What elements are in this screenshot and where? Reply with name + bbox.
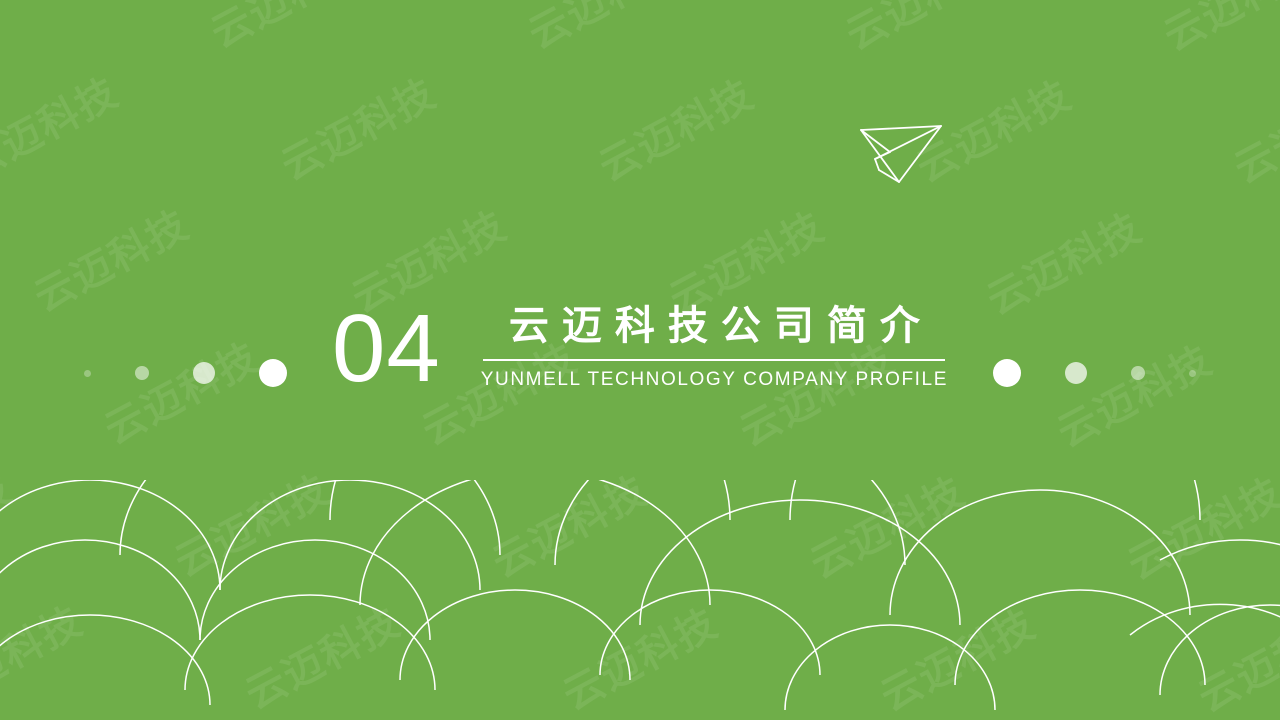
decorative-dot xyxy=(1065,362,1087,384)
watermark-text: 云迈科技 xyxy=(200,0,518,262)
watermark-text: 云迈科技 xyxy=(870,661,1188,720)
watermark-text: 云迈科技 xyxy=(0,0,200,261)
watermark-text: 云迈科技 xyxy=(412,395,730,659)
watermark-text: 云迈科技 xyxy=(518,0,836,263)
decorative-dot xyxy=(1189,370,1196,377)
watermark-text: 云迈科技 xyxy=(94,394,412,658)
watermark-text: 云迈科技 xyxy=(729,396,1047,660)
section-number: 04 xyxy=(332,301,441,397)
page-title: 云迈科技公司简介 xyxy=(496,303,933,350)
decorative-dot xyxy=(1131,366,1145,380)
watermark-text: 云迈科技 xyxy=(552,660,870,720)
cloud-arc-pattern xyxy=(0,480,1280,720)
watermark-text: 云迈科技 xyxy=(1083,0,1280,132)
watermark-text: 云迈科技 xyxy=(482,528,800,720)
watermark-text: 云迈科技 xyxy=(0,393,94,657)
paper-plane-icon xyxy=(855,112,950,192)
title-divider xyxy=(483,359,945,361)
watermark-text: 云迈科技 xyxy=(800,529,1118,720)
presentation-slide: 云迈科技云迈科技云迈科技云迈科技云迈科技云迈科技云迈科技云迈科技云迈科技云迈科技… xyxy=(0,0,1280,720)
decorative-dots-right xyxy=(993,358,1196,388)
watermark-text: 云迈科技 xyxy=(0,526,164,720)
watermark-text: 云迈科技 xyxy=(1117,530,1280,720)
watermark-text: 云迈科技 xyxy=(1153,1,1280,265)
watermark-text: 云迈科技 xyxy=(164,527,482,720)
watermark-text: 云迈科技 xyxy=(235,659,553,720)
title-text-group: 云迈科技公司简介 YUNMELL TECHNOLOGY COMPANY PROF… xyxy=(481,303,948,391)
watermark-text: 云迈科技 xyxy=(1047,397,1280,661)
watermark-text: 云迈科技 xyxy=(448,0,766,130)
watermark-text: 云迈科技 xyxy=(0,658,235,720)
title-block: 04 云迈科技公司简介 YUNMELL TECHNOLOGY COMPANY P… xyxy=(0,272,1280,422)
page-subtitle: YUNMELL TECHNOLOGY COMPANY PROFILE xyxy=(481,369,948,391)
decorative-dot xyxy=(993,359,1021,387)
watermark-text: 云迈科技 xyxy=(130,0,448,129)
